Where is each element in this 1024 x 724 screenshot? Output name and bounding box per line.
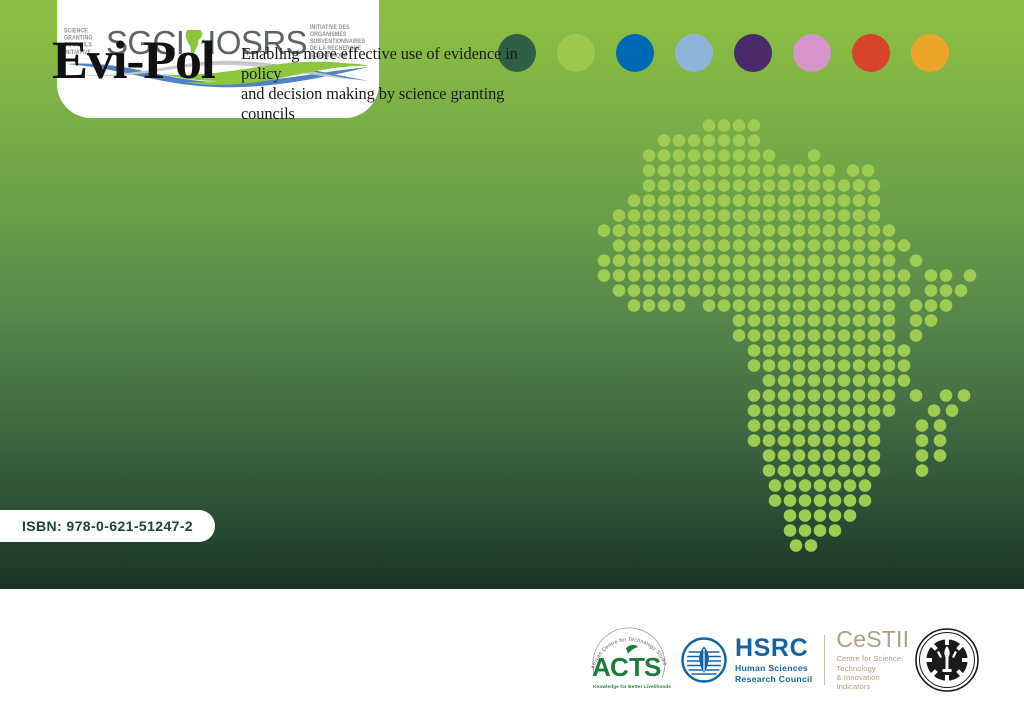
cestii-fullname-line2: & Innovation Indicators — [836, 673, 879, 691]
hsrc-fullname-line2: Research Council — [735, 674, 812, 684]
dot-light-green — [557, 34, 595, 72]
dot-sky-blue — [675, 34, 713, 72]
dot-blue — [616, 34, 654, 72]
hsrc-fullname: Human Sciences Research Council — [735, 663, 812, 683]
microtext-line: INITIATIVE DES — [310, 24, 350, 31]
isbn-banner: ISBN: 978-0-621-51247-2 — [0, 510, 215, 542]
dot-orange — [911, 34, 949, 72]
cestii-fullname-line1: Centre for Science, Technology — [836, 654, 903, 672]
dot-pink — [793, 34, 831, 72]
microtext-line: ORGANISMES — [310, 31, 346, 38]
hsrc-cestii-logo: HSRC Human Sciences Research Council CeS… — [681, 629, 896, 691]
svg-text:T: T — [629, 652, 645, 682]
cestii-text-block: CeSTII Centre for Science, Technology & … — [836, 628, 909, 692]
university-seal-logo — [914, 627, 980, 693]
hsrc-fullname-line1: Human Sciences — [735, 663, 808, 673]
logo-divider — [824, 635, 825, 685]
svg-text:Knowledge for Better Livelihoo: Knowledge for Better Livelihoods — [593, 684, 671, 689]
report-cover: SCIENCE GRANTING COUNCILS INITIATIVE SGC… — [0, 0, 1024, 724]
evipol-tagline-line2: and decision making by science granting … — [241, 84, 504, 123]
dot-purple — [734, 34, 772, 72]
evipol-tagline-line1: Enabling more effective use of evidence … — [241, 44, 518, 83]
evipol-tagline: Enabling more effective use of evidence … — [241, 44, 561, 124]
svg-text:A: A — [592, 652, 611, 682]
africa-dot-map — [580, 110, 1000, 570]
evipol-wordmark: Evi-Pol — [52, 33, 215, 87]
dot-red — [852, 34, 890, 72]
hsrc-acronym: HSRC — [735, 634, 808, 662]
svg-text:C: C — [610, 652, 629, 682]
cestii-fullname: Centre for Science, Technology & Innovat… — [836, 654, 909, 692]
hsrc-text-block: HSRC Human Sciences Research Council — [735, 636, 812, 683]
isbn-text: ISBN: 978-0-621-51247-2 — [22, 518, 193, 534]
color-dot-row — [498, 33, 978, 73]
cestii-acronym: CeSTII — [836, 628, 909, 651]
svg-text:S: S — [644, 652, 661, 682]
hsrc-emblem-icon — [681, 637, 727, 683]
acts-logo: African Centre for Technology Studies A … — [586, 626, 672, 698]
